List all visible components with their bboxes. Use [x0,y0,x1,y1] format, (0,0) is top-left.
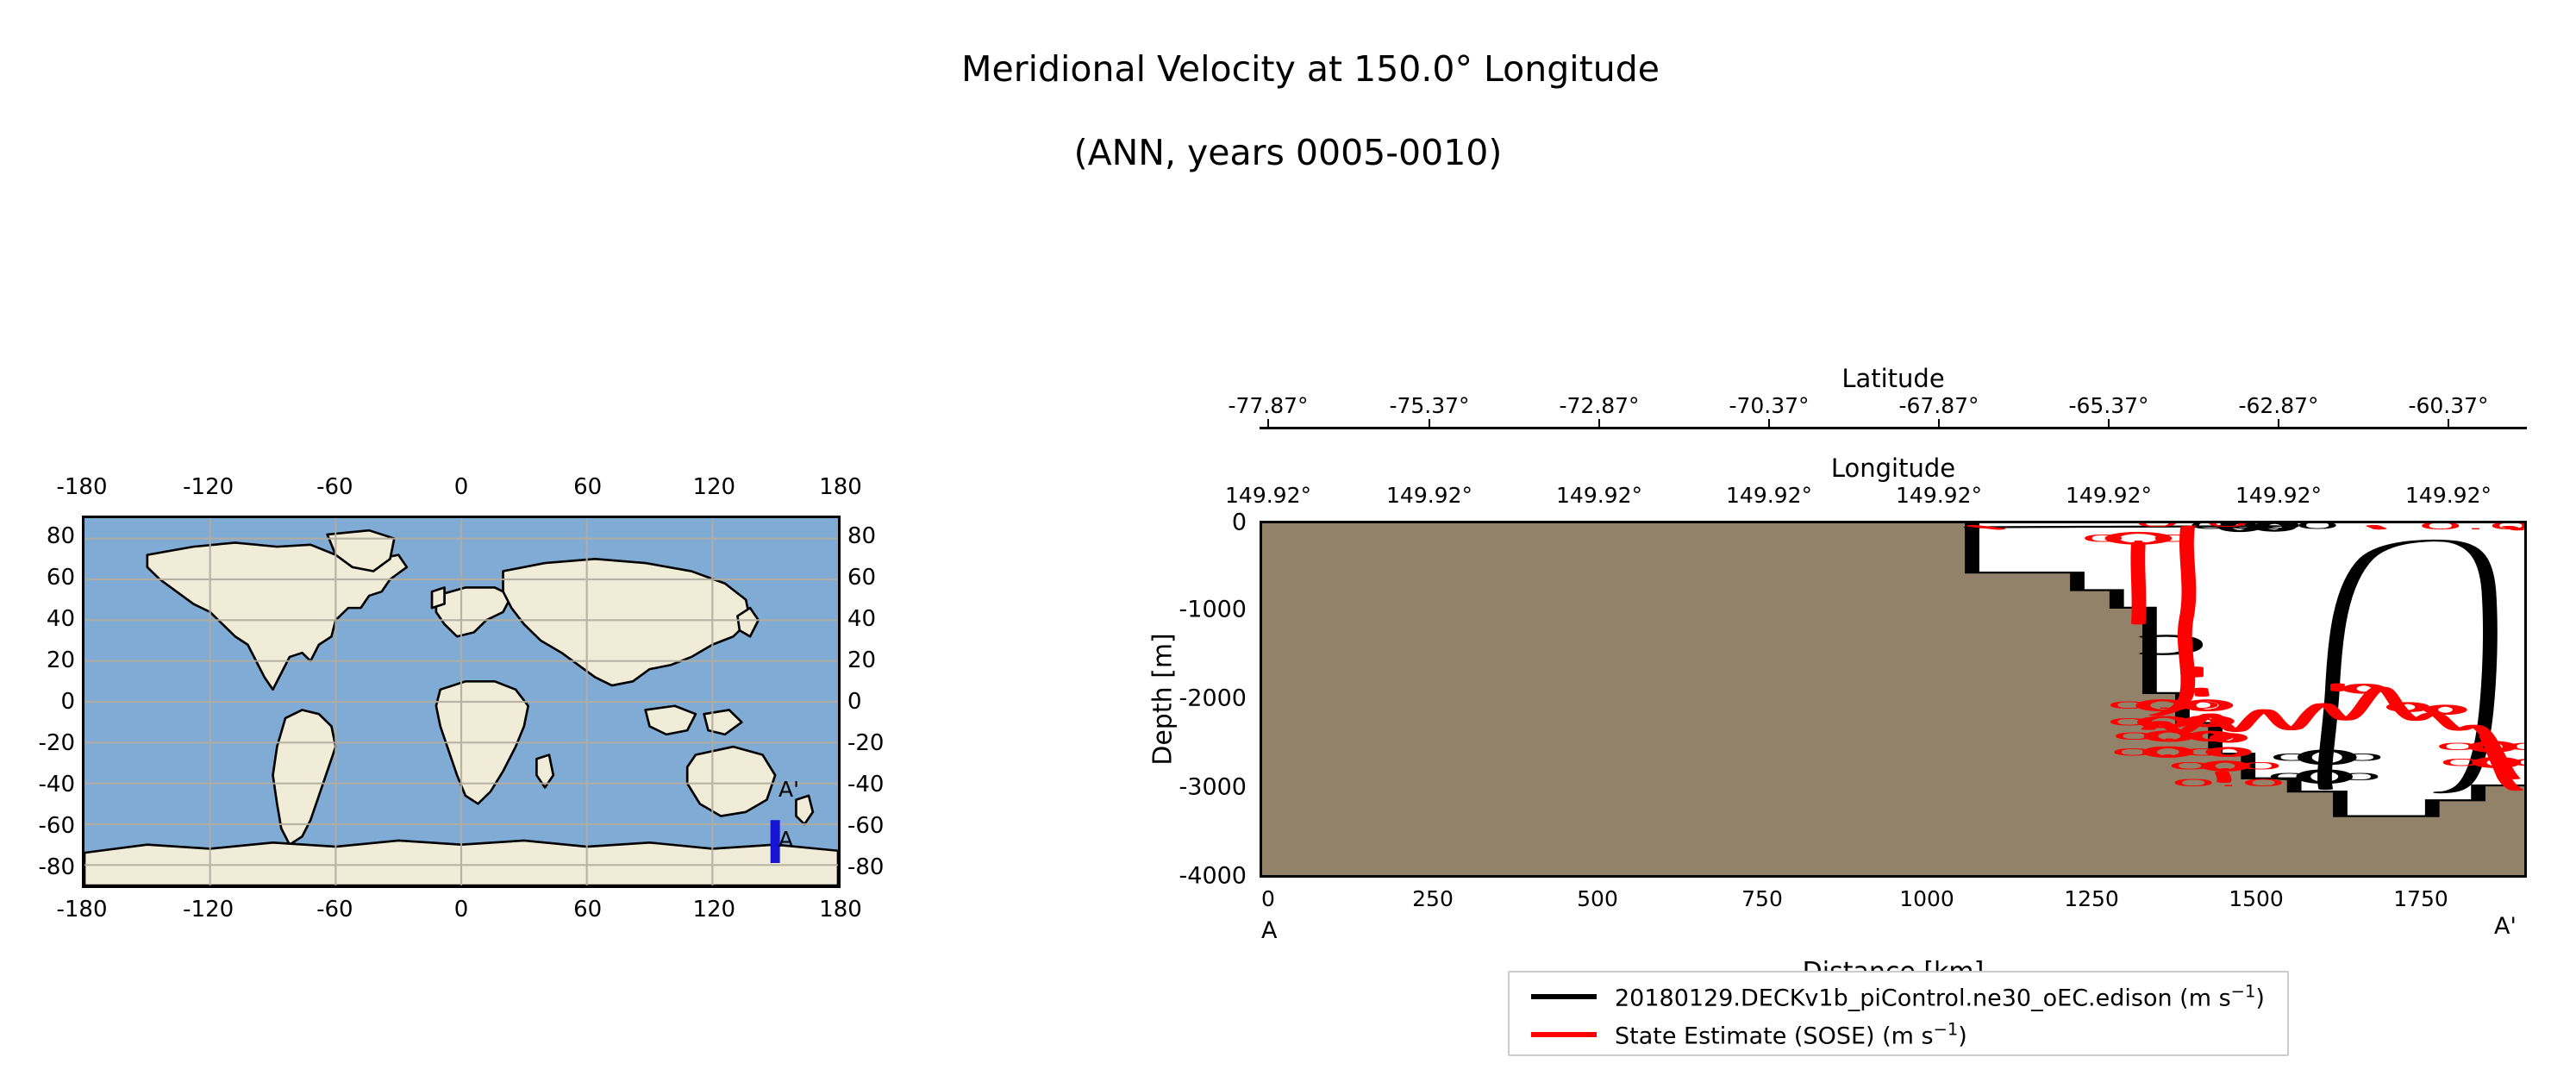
map-xtick-top-5: 120 [692,474,735,500]
transect-start-label: A [778,827,793,852]
map-ytick-left-8: -80 [39,854,75,880]
map-xtick-bot-2: -60 [316,897,353,923]
lat-axis-tick-2 [1598,419,1600,428]
lat-tick-2: -72.87° [1559,393,1639,418]
transect-end-label: A' [778,777,799,802]
map-ytick-right-1: 60 [847,565,876,591]
contour-label-red-1: 0.0 [2134,523,2251,529]
section-panel: Latitude -77.87° -75.37° -72.87° -70.37°… [1260,521,2527,878]
lon-tick-5: 149.92° [2066,483,2152,508]
latitude-axis-spine [1260,427,2527,429]
map-ytick-left-2: 40 [47,606,75,632]
lat-tick-5: -65.37° [2068,393,2148,418]
legend-entry-model[interactable]: 20180129.DECKv1b_piControl.ne30_oEC.edis… [1510,978,2287,1016]
lat-axis-tick-1 [1429,419,1430,428]
dist-tick-5: 1250 [2064,886,2119,911]
contour-label-red-3: 0.0 [2105,716,2223,728]
map-y-ticklabels-left: 80 60 40 20 0 -20 -40 -60 -80 [0,516,75,888]
map-xtick-bot-5: 120 [692,897,735,923]
lat-axis-tick-3 [1768,419,1770,428]
map-ytick-right-2: 40 [847,606,876,632]
lat-axis-tick-7 [2448,419,2449,428]
map-xtick-bot-1: -120 [183,897,234,923]
contour-label-red-4: 0.0 [2110,730,2228,741]
legend-line-swatch-black [1531,994,1597,999]
map-ytick-right-0: 80 [847,523,876,549]
latitude-axis-title: Latitude [1260,364,2527,393]
longitude-ticklabels: 149.92° 149.92° 149.92° 149.92° 149.92° … [1260,483,2527,505]
latitude-axis-bar [1260,427,2527,428]
depth-ticklabels: 0 -1000 -2000 -3000 -4000 [1135,521,1247,878]
longitude-axis-title: Longitude [1260,453,2527,483]
contour-label-black-2: 0.0 [2268,752,2385,763]
section-plot-area[interactable]: 0.0 0.0 0.0 0.0 0.0 0.0 0.0 0.0 0.0 0.0 … [1260,521,2527,878]
lon-tick-0: 149.92° [1225,483,1311,508]
depth-tick-2: -2000 [1179,685,1247,712]
dist-tick-3: 750 [1741,886,1783,911]
map-panel: -180 -120 -60 0 60 120 180 -180 -120 -60… [82,516,841,888]
map-plot-area[interactable]: A' A [82,516,841,888]
contour-label-red-8: 0.0 [2435,741,2524,753]
map-ytick-right-6: -40 [847,772,884,797]
lat-tick-1: -75.37° [1389,393,1469,418]
lon-tick-7: 149.92° [2405,483,2492,508]
dist-tick-7: 1750 [2393,886,2448,911]
contour-label-red-7: 0.0 [2170,777,2287,788]
map-ytick-right-3: 20 [847,647,876,673]
map-xtick-bot-0: -180 [56,897,107,923]
dist-tick-2: 500 [1577,886,1618,911]
map-xtick-top-1: -120 [183,474,234,500]
figure-title: Meridional Velocity at 150.0° Longitude … [0,7,2576,257]
map-ytick-right-5: -20 [847,730,884,756]
legend-entry-sose[interactable]: State Estimate (SOSE) (m s−1) [1510,1016,2287,1054]
figure-title-line1: Meridional Velocity at 150.0° Longitude [961,48,1660,90]
lat-tick-6: -62.87° [2238,393,2318,418]
section-svg: 0.0 0.0 0.0 0.0 0.0 0.0 0.0 0.0 0.0 0.0 … [1262,523,2524,875]
map-ytick-left-0: 80 [47,523,75,549]
contour-label-red-6: 0.0 [2166,760,2284,772]
lon-tick-2: 149.92° [1556,483,1642,508]
contour-label-red-5: 0.0 [2110,747,2227,758]
contour-label-red-10: 0.0 [2417,523,2524,532]
legend-label-sose-tail: ) [1958,1023,1967,1050]
contour-label-red-9: 0.0 [2438,757,2524,768]
lat-tick-4: -67.87° [1898,393,1979,418]
legend-label-sose-exp: −1 [1934,1020,1959,1040]
map-xtick-top-4: 60 [573,474,602,500]
depth-tick-4: -4000 [1179,863,1247,890]
legend-label-model-main: 20180129.DECKv1b_piControl.ne30_oEC.edis… [1615,985,2231,1012]
lon-tick-1: 149.92° [1386,483,1472,508]
map-xtick-bot-3: 0 [454,897,469,923]
dist-tick-6: 1500 [2229,886,2284,911]
latitude-ticklabels: -77.87° -75.37° -72.87° -70.37° -67.87° … [1260,393,2527,416]
map-ytick-right-7: -60 [847,813,884,839]
map-ytick-left-4: 0 [60,689,75,715]
legend-line-swatch-red [1531,1032,1597,1037]
legend: 20180129.DECKv1b_piControl.ne30_oEC.edis… [1508,971,2289,1056]
map-y-ticklabels-right: 80 60 40 20 0 -20 -40 -60 -80 [847,516,925,888]
lon-tick-3: 149.92° [1726,483,1812,508]
depth-tick-0: 0 [1232,510,1247,536]
section-end-endpoint: A' [2494,913,2517,940]
map-xtick-top-6: 180 [819,474,862,500]
distance-ticklabels: 0 250 500 750 1000 1250 1500 1750 [1260,886,2527,909]
map-x-ticklabels-bottom: -180 -120 -60 0 60 120 180 [82,897,841,923]
map-xtick-bot-4: 60 [573,897,602,923]
map-x-ticklabels-top: -180 -120 -60 0 60 120 180 [82,474,841,500]
map-xtick-top-0: -180 [56,474,107,500]
dist-tick-4: 1000 [1899,886,1954,911]
lat-tick-3: -70.37° [1729,393,1809,418]
lat-axis-tick-6 [2278,419,2279,428]
section-start-endpoint: A [1261,917,1277,944]
map-ytick-left-6: -40 [39,772,75,797]
lat-axis-tick-4 [1938,419,1940,428]
map-ytick-left-1: 60 [47,565,75,591]
dist-tick-1: 250 [1412,886,1454,911]
figure-canvas: Meridional Velocity at 150.0° Longitude … [0,0,2576,1082]
contour-label-red-2: 0.0 [2105,700,2223,711]
map-xtick-top-3: 0 [454,474,469,500]
lat-axis-tick-0 [1267,419,1269,428]
figure-title-line2: (ANN, years 0005-0010) [0,132,2576,173]
lat-axis-tick-5 [2108,419,2110,428]
map-ytick-left-5: -20 [39,730,75,756]
map-ytick-left-7: -60 [39,813,75,839]
contour-label-red-0: 0.0 [2080,533,2198,544]
depth-tick-3: -3000 [1179,774,1247,801]
map-ytick-left-3: 20 [47,647,75,673]
lat-tick-0: -77.87° [1228,393,1308,418]
lon-tick-6: 149.92° [2235,483,2322,508]
legend-label-sose-main: State Estimate (SOSE) (m s [1615,1023,1934,1050]
map-ytick-right-4: 0 [847,689,862,715]
depth-tick-1: -1000 [1179,597,1247,623]
lat-tick-7: -60.37° [2408,393,2488,418]
lon-tick-4: 149.92° [1896,483,1982,508]
map-ytick-right-8: -80 [847,854,884,880]
legend-label-model-exp: −1 [2231,982,2256,1002]
legend-label-sose: State Estimate (SOSE) (m s−1) [1615,1020,1967,1050]
legend-label-model-tail: ) [2255,985,2265,1012]
map-xtick-top-2: -60 [316,474,353,500]
legend-label-model: 20180129.DECKv1b_piControl.ne30_oEC.edis… [1615,982,2265,1012]
world-map-svg [84,518,838,885]
dist-tick-0: 0 [1261,886,1275,911]
map-xtick-bot-6: 180 [819,897,862,923]
